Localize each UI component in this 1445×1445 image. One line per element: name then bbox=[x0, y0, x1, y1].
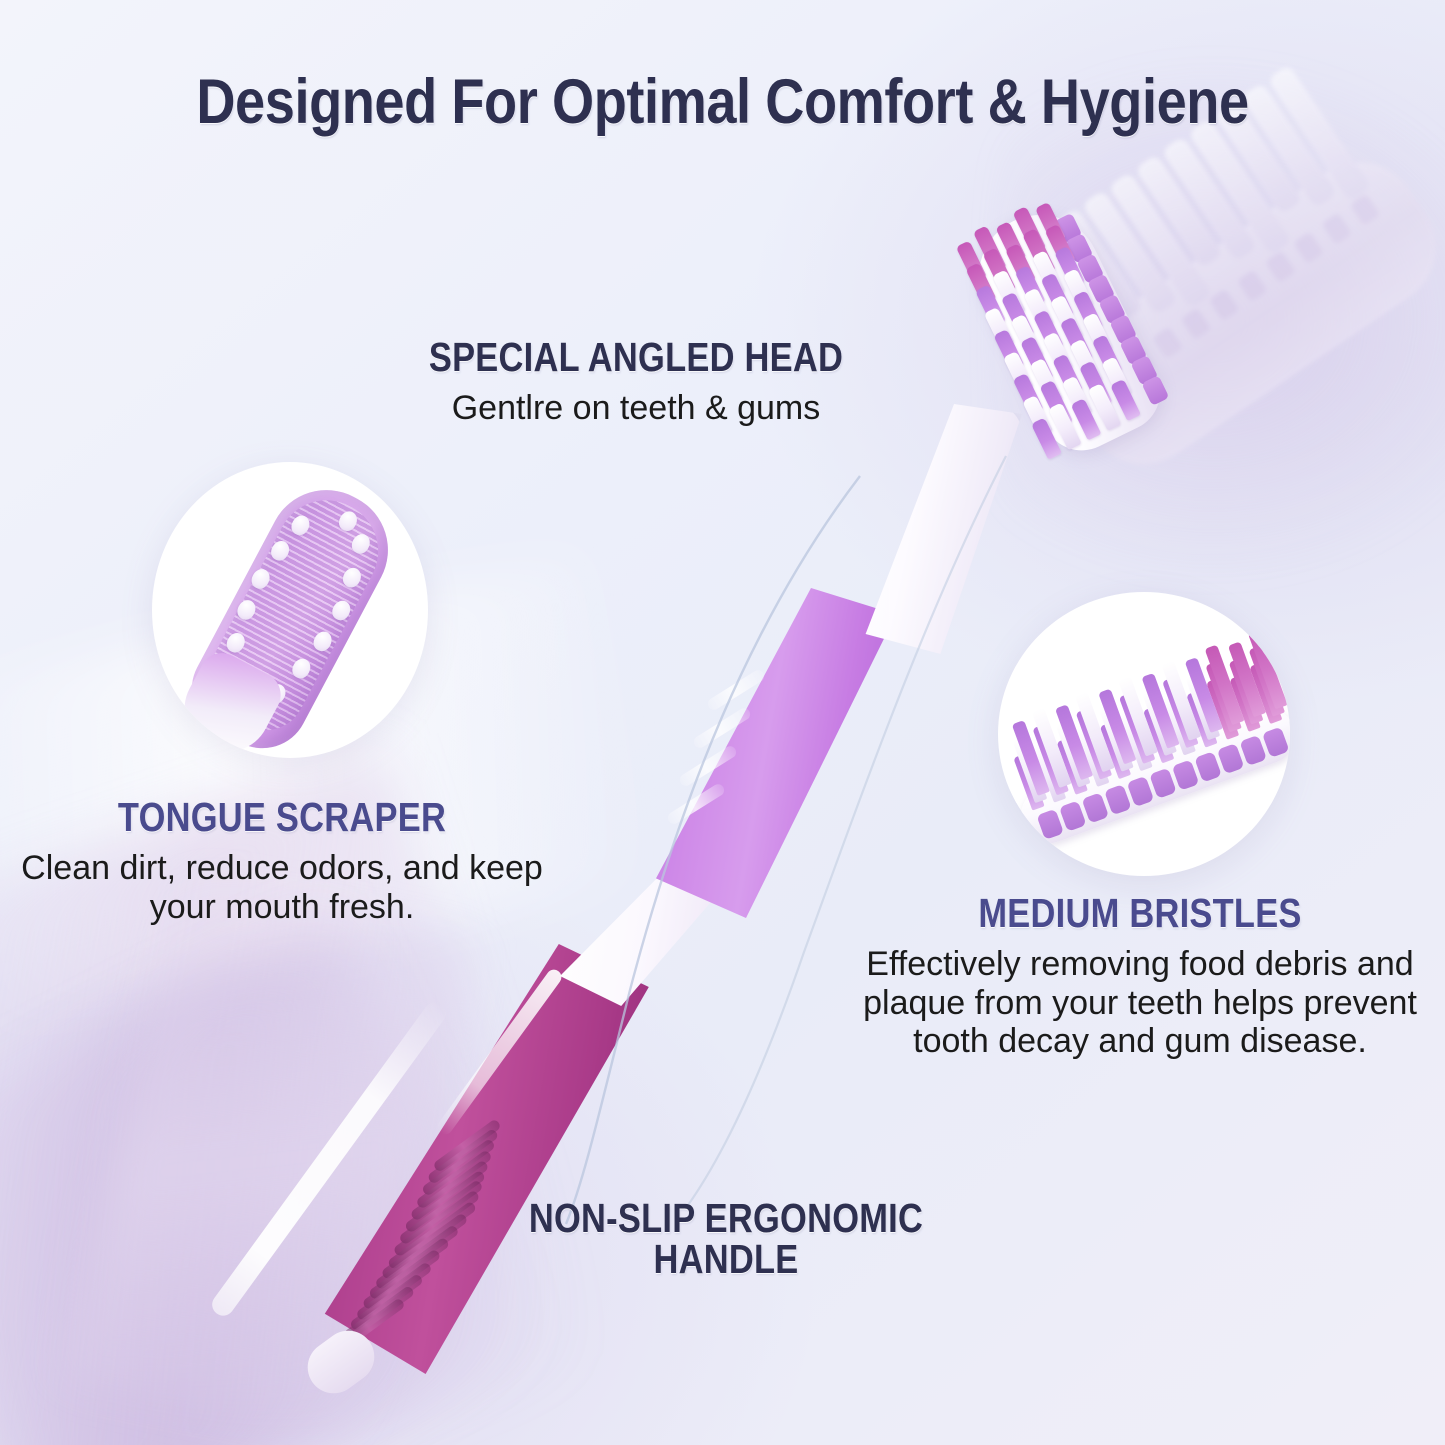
grip-rib bbox=[427, 1128, 499, 1185]
grip-rib bbox=[368, 1236, 451, 1300]
grip-wave-4 bbox=[666, 782, 727, 826]
accent-curve-left bbox=[560, 470, 980, 1230]
feature-medium-bristles: MEDIUM BRISTLES Effectively removing foo… bbox=[838, 892, 1442, 1061]
feature-special-angled-head: SPECIAL ANGLED HEAD Gentlre on teeth & g… bbox=[196, 336, 1076, 428]
feature-subtitle-tongue-scraper: Clean dirt, reduce odors, and keep your … bbox=[0, 849, 572, 926]
feature-tongue-scraper: TONGUE SCRAPER Clean dirt, reduce odors,… bbox=[0, 796, 572, 926]
lower-handle-highlight-stripe bbox=[435, 967, 565, 1138]
infographic-canvas: Designed For Optimal Comfort & Hygiene S… bbox=[0, 0, 1445, 1445]
grip-wave-1 bbox=[706, 668, 767, 712]
lower-handle bbox=[296, 944, 656, 1374]
feature-title-special-angled-head: SPECIAL ANGLED HEAD bbox=[266, 336, 1005, 379]
grip-rib bbox=[355, 1261, 433, 1322]
grip-wave-3 bbox=[678, 744, 739, 788]
background-wedge-two bbox=[0, 920, 537, 1445]
grip-rib bbox=[421, 1139, 496, 1198]
grip-rib bbox=[361, 1249, 441, 1311]
closeup-bristle-tufts bbox=[998, 615, 1259, 718]
grip-rib bbox=[349, 1273, 424, 1332]
feature-title-tongue-scraper: TONGUE SCRAPER bbox=[38, 796, 525, 839]
grip-rib bbox=[432, 1118, 502, 1173]
thumb-grip-body bbox=[646, 588, 896, 918]
handle-end-tip bbox=[297, 1320, 384, 1403]
brush-neck-body bbox=[852, 404, 1022, 654]
feature-subtitle-special-angled-head: Gentlre on teeth & gums bbox=[196, 389, 1076, 427]
bristles-closeup bbox=[998, 615, 1290, 859]
feature-non-slip-ergonomic-handle: NON-SLIP ERGONOMIC HANDLE bbox=[452, 1198, 1000, 1280]
grip-rib bbox=[336, 1297, 406, 1352]
brush-neck bbox=[852, 404, 1022, 654]
lower-handle-body bbox=[296, 944, 656, 1374]
feature-subtitle-medium-bristles: Effectively removing food debris and pla… bbox=[838, 945, 1442, 1060]
thumb-grip bbox=[646, 588, 896, 918]
feature-title-non-slip-ergonomic-handle: NON-SLIP ERGONOMIC HANDLE bbox=[496, 1198, 956, 1280]
mid-collar bbox=[560, 856, 730, 1006]
lower-handle-white-edge bbox=[208, 998, 450, 1320]
mid-collar-body bbox=[560, 856, 730, 1006]
grip-wave-2 bbox=[692, 706, 753, 750]
grip-rib bbox=[343, 1285, 415, 1342]
inset-medium-bristles-closeup bbox=[998, 592, 1290, 876]
feature-title-medium-bristles: MEDIUM BRISTLES bbox=[886, 892, 1393, 935]
background-wedge-three bbox=[62, 871, 479, 1445]
grip-rib bbox=[374, 1224, 459, 1290]
inset-tongue-scraper-closeup bbox=[152, 462, 428, 758]
page-title: Designed For Optimal Comfort & Hygiene bbox=[101, 66, 1344, 138]
